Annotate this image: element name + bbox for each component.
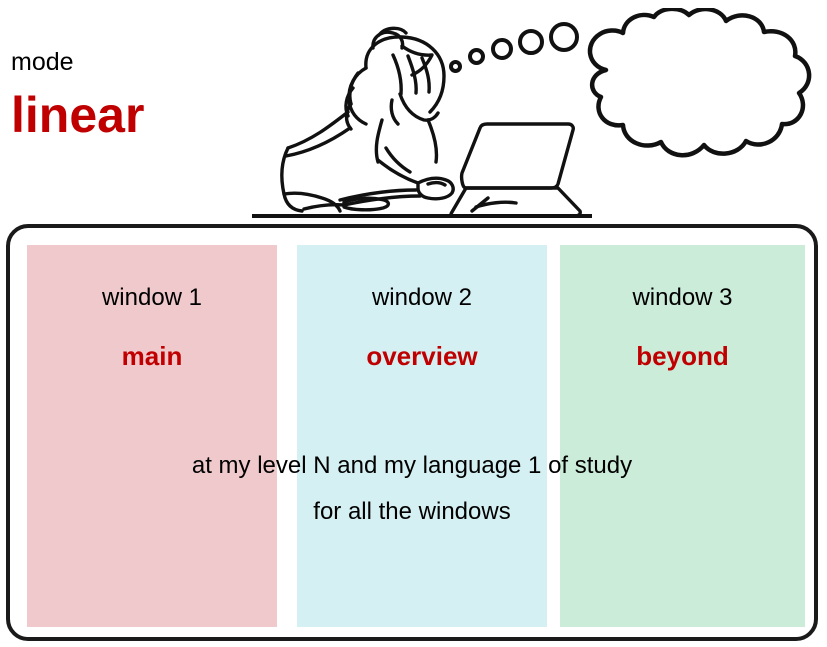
mode-label: mode [11, 47, 74, 77]
window-panel-1[interactable]: window 1 main [27, 245, 277, 627]
thought-dot-icon [518, 29, 544, 55]
window-panel-3[interactable]: window 3 beyond [560, 245, 805, 627]
thought-dot-icon [449, 60, 462, 73]
window-panel-1-name: main [27, 340, 277, 372]
window-panel-3-name: beyond [560, 340, 805, 372]
window-panel-2-name: overview [297, 340, 547, 372]
thought-cloud-icon: I go deeply and straightforward in the s… [566, 8, 822, 168]
header-zone: mode linear [0, 0, 827, 224]
windows-row: window 1 main window 2 overview window 3… [10, 228, 822, 645]
window-panel-2-number: window 2 [297, 283, 547, 313]
window-panel-1-number: window 1 [27, 283, 277, 313]
mode-value: linear [11, 85, 144, 145]
thought-dot-icon [468, 48, 485, 65]
thought-dot-icon [491, 38, 513, 60]
windows-container: window 1 main window 2 overview window 3… [6, 224, 818, 641]
window-panel-3-number: window 3 [560, 283, 805, 313]
window-panel-2[interactable]: window 2 overview [297, 245, 547, 627]
